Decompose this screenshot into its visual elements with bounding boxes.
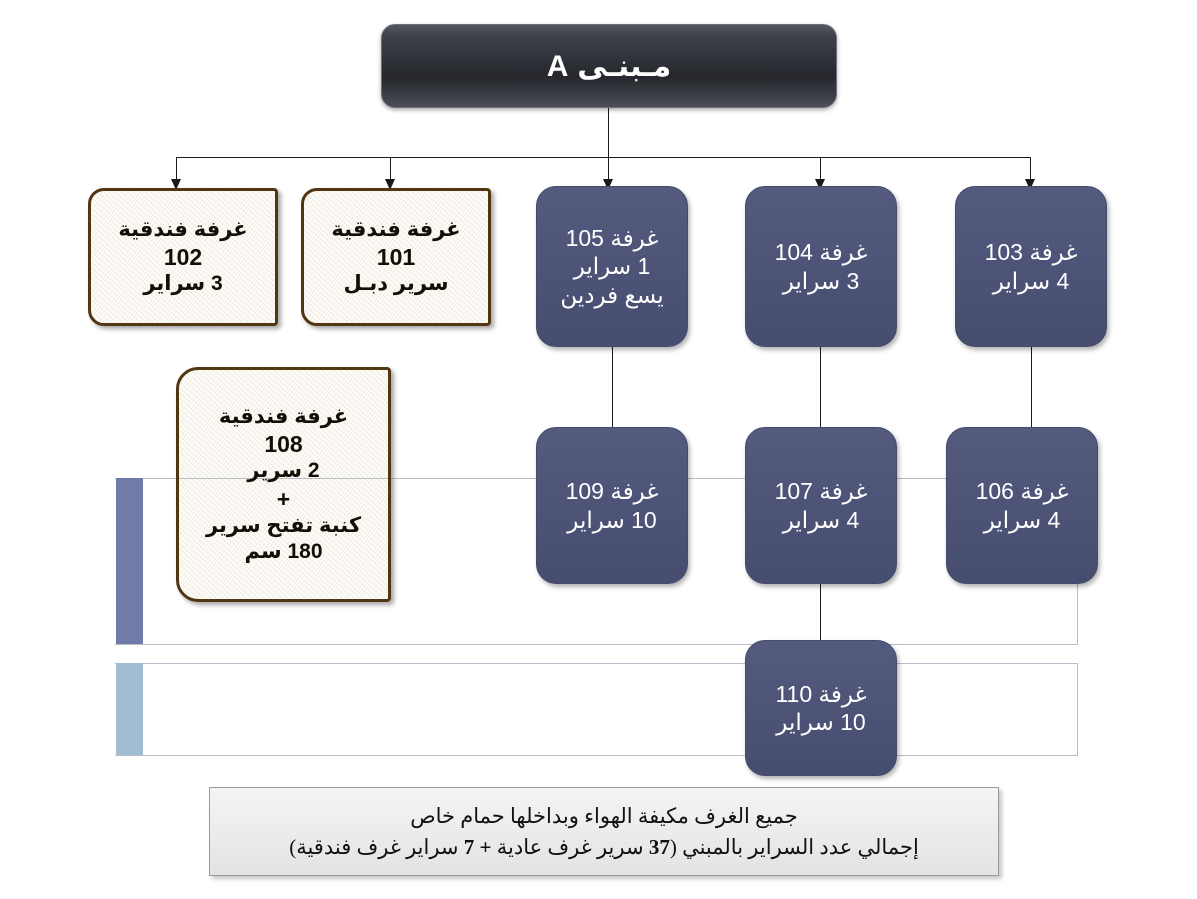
room-110-line-2: 10 سراير <box>776 708 865 736</box>
footer-note-line-1: جميع الغرف مكيفة الهواء وبداخلها حمام خا… <box>410 801 798 831</box>
room-107-line-2: 4 سراير <box>783 506 860 534</box>
hotel-room-101-line-3: سرير دبـل <box>343 271 448 297</box>
room-card-103[interactable]: غرفة 103 4 سراير <box>955 186 1107 347</box>
hotel-room-101-line-2: 101 <box>377 243 415 272</box>
connector-103-to-106 <box>1031 347 1032 427</box>
footer-total-hotel-beds: 7 <box>464 835 480 859</box>
connector-horizontal-bus <box>176 157 1031 158</box>
room-card-105[interactable]: غرفة 105 1 سراير يسع فردين <box>536 186 688 347</box>
room-109-line-1: غرفة 109 <box>566 477 659 505</box>
hotel-room-card-101[interactable]: غرفة فندقية 101 سرير دبـل <box>301 188 491 326</box>
hotel-room-102-line-2: 102 <box>164 243 202 272</box>
footer-total-mid: سرير غرف عادية <box>492 835 649 859</box>
room-105-line-2: 1 سراير <box>574 252 651 280</box>
hotel-room-102-line-3: 3 سراير <box>143 271 222 297</box>
hotel-room-108-line-1: غرفة فندقية <box>219 404 348 430</box>
band-lower-top-edge <box>115 663 1077 664</box>
room-105-line-3: يسع فردين <box>560 281 663 309</box>
building-title-text: مـبنـى A <box>547 50 671 83</box>
band-lower-left-cap <box>116 663 143 755</box>
hotel-room-108-line-6: 180 سم <box>245 539 323 565</box>
hotel-room-108-line-3: 2 سرير <box>247 458 319 484</box>
footer-note-line-2: إجمالي عدد السراير بالمبني (37 سرير غرف … <box>289 832 919 862</box>
footer-total-suffix: سراير غرف فندقية) <box>289 835 464 859</box>
band-lower-bottom-edge <box>115 755 1077 756</box>
room-card-106[interactable]: غرفة 106 4 سراير <box>946 427 1098 584</box>
connector-104-to-107 <box>820 347 821 427</box>
diagram-canvas: مـبنـى A غرفة فندقية 102 3 سراير غرفة فن… <box>0 0 1197 899</box>
footer-plus-sign: + <box>480 835 492 859</box>
hotel-room-card-102[interactable]: غرفة فندقية 102 3 سراير <box>88 188 278 326</box>
room-110-line-1: غرفة 110 <box>775 680 866 708</box>
room-card-110[interactable]: غرفة 110 10 سراير <box>745 640 897 776</box>
band-upper-bottom-edge <box>115 644 1077 645</box>
room-104-line-2: 3 سراير <box>783 267 860 295</box>
hotel-room-108-line-5: كنبة تفتح سرير <box>206 513 361 539</box>
connector-title-trunk <box>608 108 609 158</box>
room-103-line-2: 4 سراير <box>993 267 1070 295</box>
connector-105-to-109 <box>612 347 613 427</box>
hotel-room-101-line-1: غرفة فندقية <box>331 217 460 243</box>
footer-total-prefix: إجمالي عدد السراير بالمبني ( <box>670 835 919 859</box>
room-109-line-2: 10 سراير <box>567 506 656 534</box>
room-106-line-2: 4 سراير <box>984 506 1061 534</box>
band-lower-right-edge <box>1077 663 1078 756</box>
band-upper-left-cap <box>116 478 143 644</box>
building-title-box: مـبنـى A <box>381 24 837 108</box>
room-105-line-1: غرفة 105 <box>566 224 659 252</box>
footer-total-regular-beds: 37 <box>649 835 670 859</box>
hotel-room-102-line-1: غرفة فندقية <box>118 217 247 243</box>
room-106-line-1: غرفة 106 <box>976 477 1069 505</box>
room-107-line-1: غرفة 107 <box>775 477 868 505</box>
hotel-room-108-line-4: + <box>277 485 290 514</box>
connector-107-to-110 <box>820 584 821 640</box>
room-card-107[interactable]: غرفة 107 4 سراير <box>745 427 897 584</box>
footer-note-box: جميع الغرف مكيفة الهواء وبداخلها حمام خا… <box>209 787 999 876</box>
room-card-109[interactable]: غرفة 109 10 سراير <box>536 427 688 584</box>
room-104-line-1: غرفة 104 <box>775 238 868 266</box>
room-103-line-1: غرفة 103 <box>985 238 1078 266</box>
room-card-104[interactable]: غرفة 104 3 سراير <box>745 186 897 347</box>
hotel-room-card-108[interactable]: غرفة فندقية 108 2 سرير + كنبة تفتح سرير … <box>176 367 391 602</box>
hotel-room-108-line-2: 108 <box>264 430 302 459</box>
